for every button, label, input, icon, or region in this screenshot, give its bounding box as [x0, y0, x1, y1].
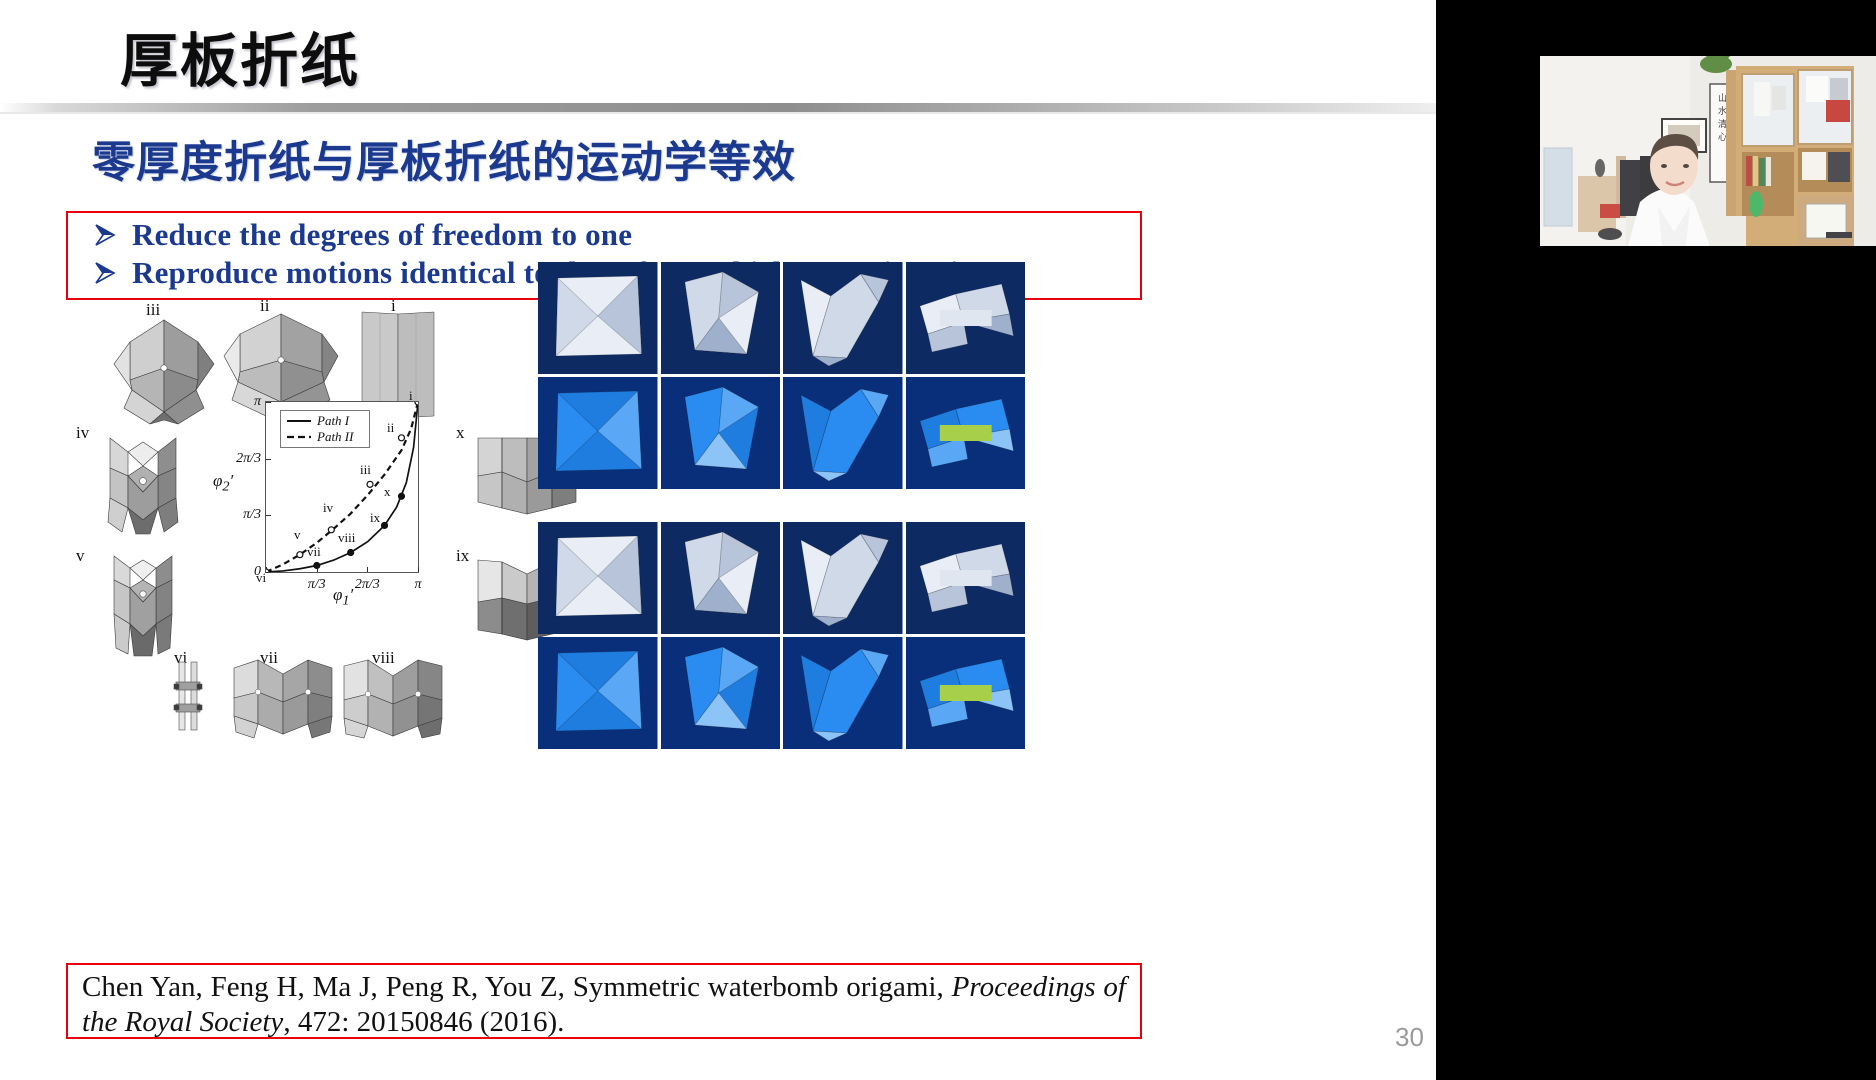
row-blue-paper-origami-top	[538, 377, 1025, 489]
legend-dashed-line-icon	[286, 432, 312, 442]
photo-cell	[783, 377, 903, 489]
webcam-panel: 山水 清心	[1436, 0, 1876, 1080]
citation-text: Chen Yan, Feng H, Ma J, Peng R, You Z, S…	[82, 970, 1126, 1041]
row-white-thick-panel-origami-top	[538, 262, 1025, 374]
slide-page-number: 30	[1395, 1022, 1424, 1053]
chart-point-label-v: v	[294, 527, 301, 543]
slide-title-bar: 厚板折纸	[0, 0, 1436, 110]
citation-rest: , 472: 20150846 (2016).	[283, 1006, 564, 1038]
chart-point-label-iii: iii	[360, 462, 371, 478]
chart-x-axis-label: φ1′	[333, 585, 353, 609]
chart-marker-i	[415, 402, 418, 405]
y-tick-label: 2π/3	[236, 451, 261, 467]
photo-cell	[783, 637, 903, 749]
page-title: 厚板折纸	[120, 14, 360, 98]
screen: 厚板折纸 零厚度折纸与厚板折纸的运动学等效 Reduce the degrees…	[0, 0, 1876, 1080]
x-tick-label: π	[414, 577, 421, 593]
x-tick-mark	[418, 567, 419, 572]
arrow-bullet-icon	[92, 222, 118, 248]
chart-point-label-vii: vii	[307, 544, 321, 560]
legend-label: Path I	[317, 413, 349, 429]
chart-marker-v	[297, 552, 303, 558]
model-label-v: v	[76, 546, 85, 566]
photo-cell	[661, 377, 781, 489]
model-vi	[168, 660, 208, 732]
legend-solid-line-icon	[286, 416, 312, 426]
bullet-label: Reduce the degrees of freedom to one	[132, 217, 632, 253]
photo-cell	[538, 522, 658, 634]
chart-marker-ii	[398, 435, 404, 441]
chart-point-label-vi: vi	[256, 570, 266, 586]
photo-cell	[661, 262, 781, 374]
row-blue-paper-origami-bottom	[538, 637, 1025, 749]
citation-authors: Chen Yan, Feng H, Ma J, Peng R, You Z,	[82, 971, 573, 1003]
x-tick-label: 2π/3	[355, 577, 380, 593]
photo-cell	[906, 262, 1026, 374]
citation-box: Chen Yan, Feng H, Ma J, Peng R, You Z, S…	[66, 963, 1142, 1039]
y-tick-label: π	[254, 394, 261, 410]
chart-marker-viii	[348, 550, 354, 556]
y-tick-mark	[266, 572, 271, 573]
legend-entry-path-ii: Path II	[286, 429, 353, 445]
row-white-thick-panel-origami-bottom	[538, 522, 1025, 634]
model-iii	[110, 316, 218, 426]
legend-entry-path-i: Path I	[286, 413, 349, 429]
chart-marker-ix	[382, 522, 388, 528]
photo-cell	[783, 262, 903, 374]
model-label-iv: iv	[76, 423, 89, 443]
chart-point-label-ii: ii	[387, 420, 394, 436]
chart-point-label-i: i	[409, 388, 413, 404]
model-label-ix: ix	[456, 546, 469, 566]
title-divider-thin	[0, 112, 1436, 114]
photo-cell	[783, 522, 903, 634]
slide-canvas: 厚板折纸 零厚度折纸与厚板折纸的运动学等效 Reduce the degrees…	[0, 0, 1436, 1080]
model-iv	[98, 436, 188, 536]
photo-cell	[661, 637, 781, 749]
slide-subtitle: 零厚度折纸与厚板折纸的运动学等效	[92, 128, 796, 190]
photo-cell	[538, 377, 658, 489]
chart-marker-vi	[266, 569, 269, 572]
bullet-item: Reduce the degrees of freedom to one	[92, 216, 632, 254]
photo-cell	[538, 637, 658, 749]
photo-cell	[538, 262, 658, 374]
photo-cell	[906, 522, 1026, 634]
chart-point-label-x: x	[384, 484, 391, 500]
chart-plot-area: π 2π/3 π/3 0 π/3 2π/3 π	[265, 401, 419, 573]
chart-path-diagram: φ2′ φ1′ π 2π/3 π/3 0 π/3	[205, 393, 430, 593]
chart-point-label-iv: iv	[323, 500, 333, 516]
model-viii	[338, 658, 448, 740]
presenter-webcam-feed[interactable]: 山水 清心	[1540, 56, 1876, 246]
model-vii	[228, 658, 338, 740]
chart-point-label-ix: ix	[370, 510, 380, 526]
chart-marker-iv	[328, 527, 334, 533]
citation-article-title: Symmetric waterbomb origami,	[573, 971, 952, 1003]
chart-legend: Path I Path II	[280, 410, 370, 448]
chart-marker-iii	[367, 481, 373, 487]
chart-y-axis-label: φ2′	[213, 471, 233, 495]
y-tick-label: π/3	[243, 507, 261, 523]
chart-marker-x	[398, 493, 404, 499]
photo-cell	[661, 522, 781, 634]
photo-cell	[906, 637, 1026, 749]
chart-point-label-viii: viii	[338, 530, 355, 546]
x-tick-label: π/3	[308, 577, 326, 593]
model-v	[100, 554, 186, 658]
legend-label: Path II	[317, 429, 353, 445]
photo-cell	[906, 377, 1026, 489]
model-label-x: x	[456, 423, 465, 443]
title-divider	[0, 103, 1436, 112]
chart-marker-vii	[314, 563, 320, 569]
